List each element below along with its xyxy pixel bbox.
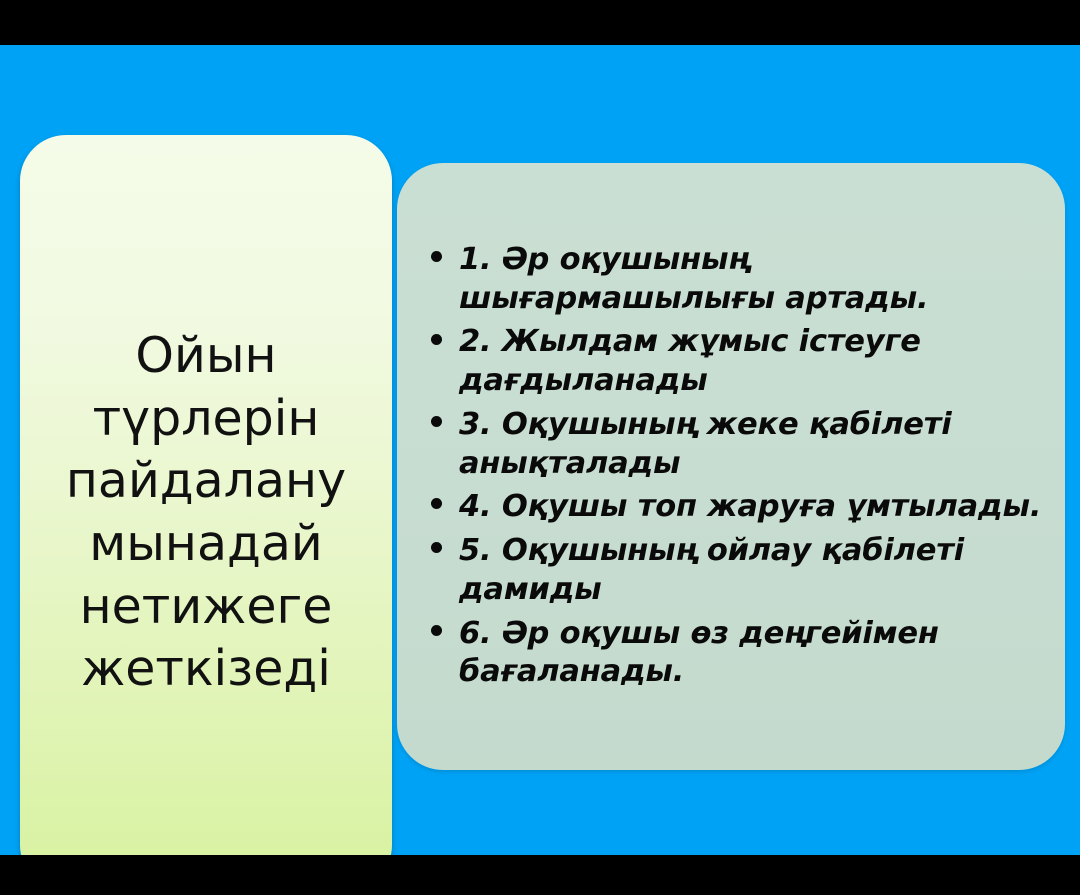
result-list-item: 4. Оқушы топ жаруға ұмтылады. [425, 488, 1051, 527]
result-item-label: 2. Жылдам жұмыс істеуге дағдыланады [459, 324, 921, 398]
result-list-item: 6. Әр оқушы өз деңгейімен бағаланады. [425, 615, 1051, 692]
results-list: 1. Әр оқушының шығармашылығы артады.2. Ж… [425, 241, 1051, 697]
result-item-label: 3. Оқушының жеке қабілеті анықталады [459, 407, 952, 481]
results-panel: 1. Әр оқушының шығармашылығы артады.2. Ж… [397, 163, 1065, 770]
result-item-label: 4. Оқушы топ жаруға ұмтылады. [459, 489, 1041, 524]
title-card-text: Ойын түрлерін пайдалану мынадай нетижеге… [20, 325, 392, 701]
result-list-item: 3. Оқушының жеке қабілеті анықталады [425, 406, 1051, 483]
bullet-icon [431, 251, 442, 262]
result-list-item: 1. Әр оқушының шығармашылығы артады. [425, 241, 1051, 318]
result-item-label: 5. Оқушының ойлау қабілеті дамиды [459, 533, 964, 607]
letterbox-bottom-bar [0, 855, 1080, 895]
bullet-icon [431, 416, 442, 427]
slide-canvas: 1. Әр оқушының шығармашылығы артады.2. Ж… [0, 0, 1080, 895]
bullet-icon [431, 625, 442, 636]
bullet-icon [431, 334, 442, 345]
bullet-icon [431, 542, 442, 553]
result-item-label: 1. Әр оқушының шығармашылығы артады. [459, 242, 928, 316]
result-list-item: 5. Оқушының ойлау қабілеті дамиды [425, 532, 1051, 609]
title-card: Ойын түрлерін пайдалану мынадай нетижеге… [20, 135, 392, 855]
bullet-icon [431, 498, 442, 509]
result-item-label: 6. Әр оқушы өз деңгейімен бағаланады. [459, 616, 939, 690]
slide-stage: 1. Әр оқушының шығармашылығы артады.2. Ж… [0, 45, 1080, 855]
letterbox-top-bar [0, 0, 1080, 45]
result-list-item: 2. Жылдам жұмыс істеуге дағдыланады [425, 323, 1051, 400]
